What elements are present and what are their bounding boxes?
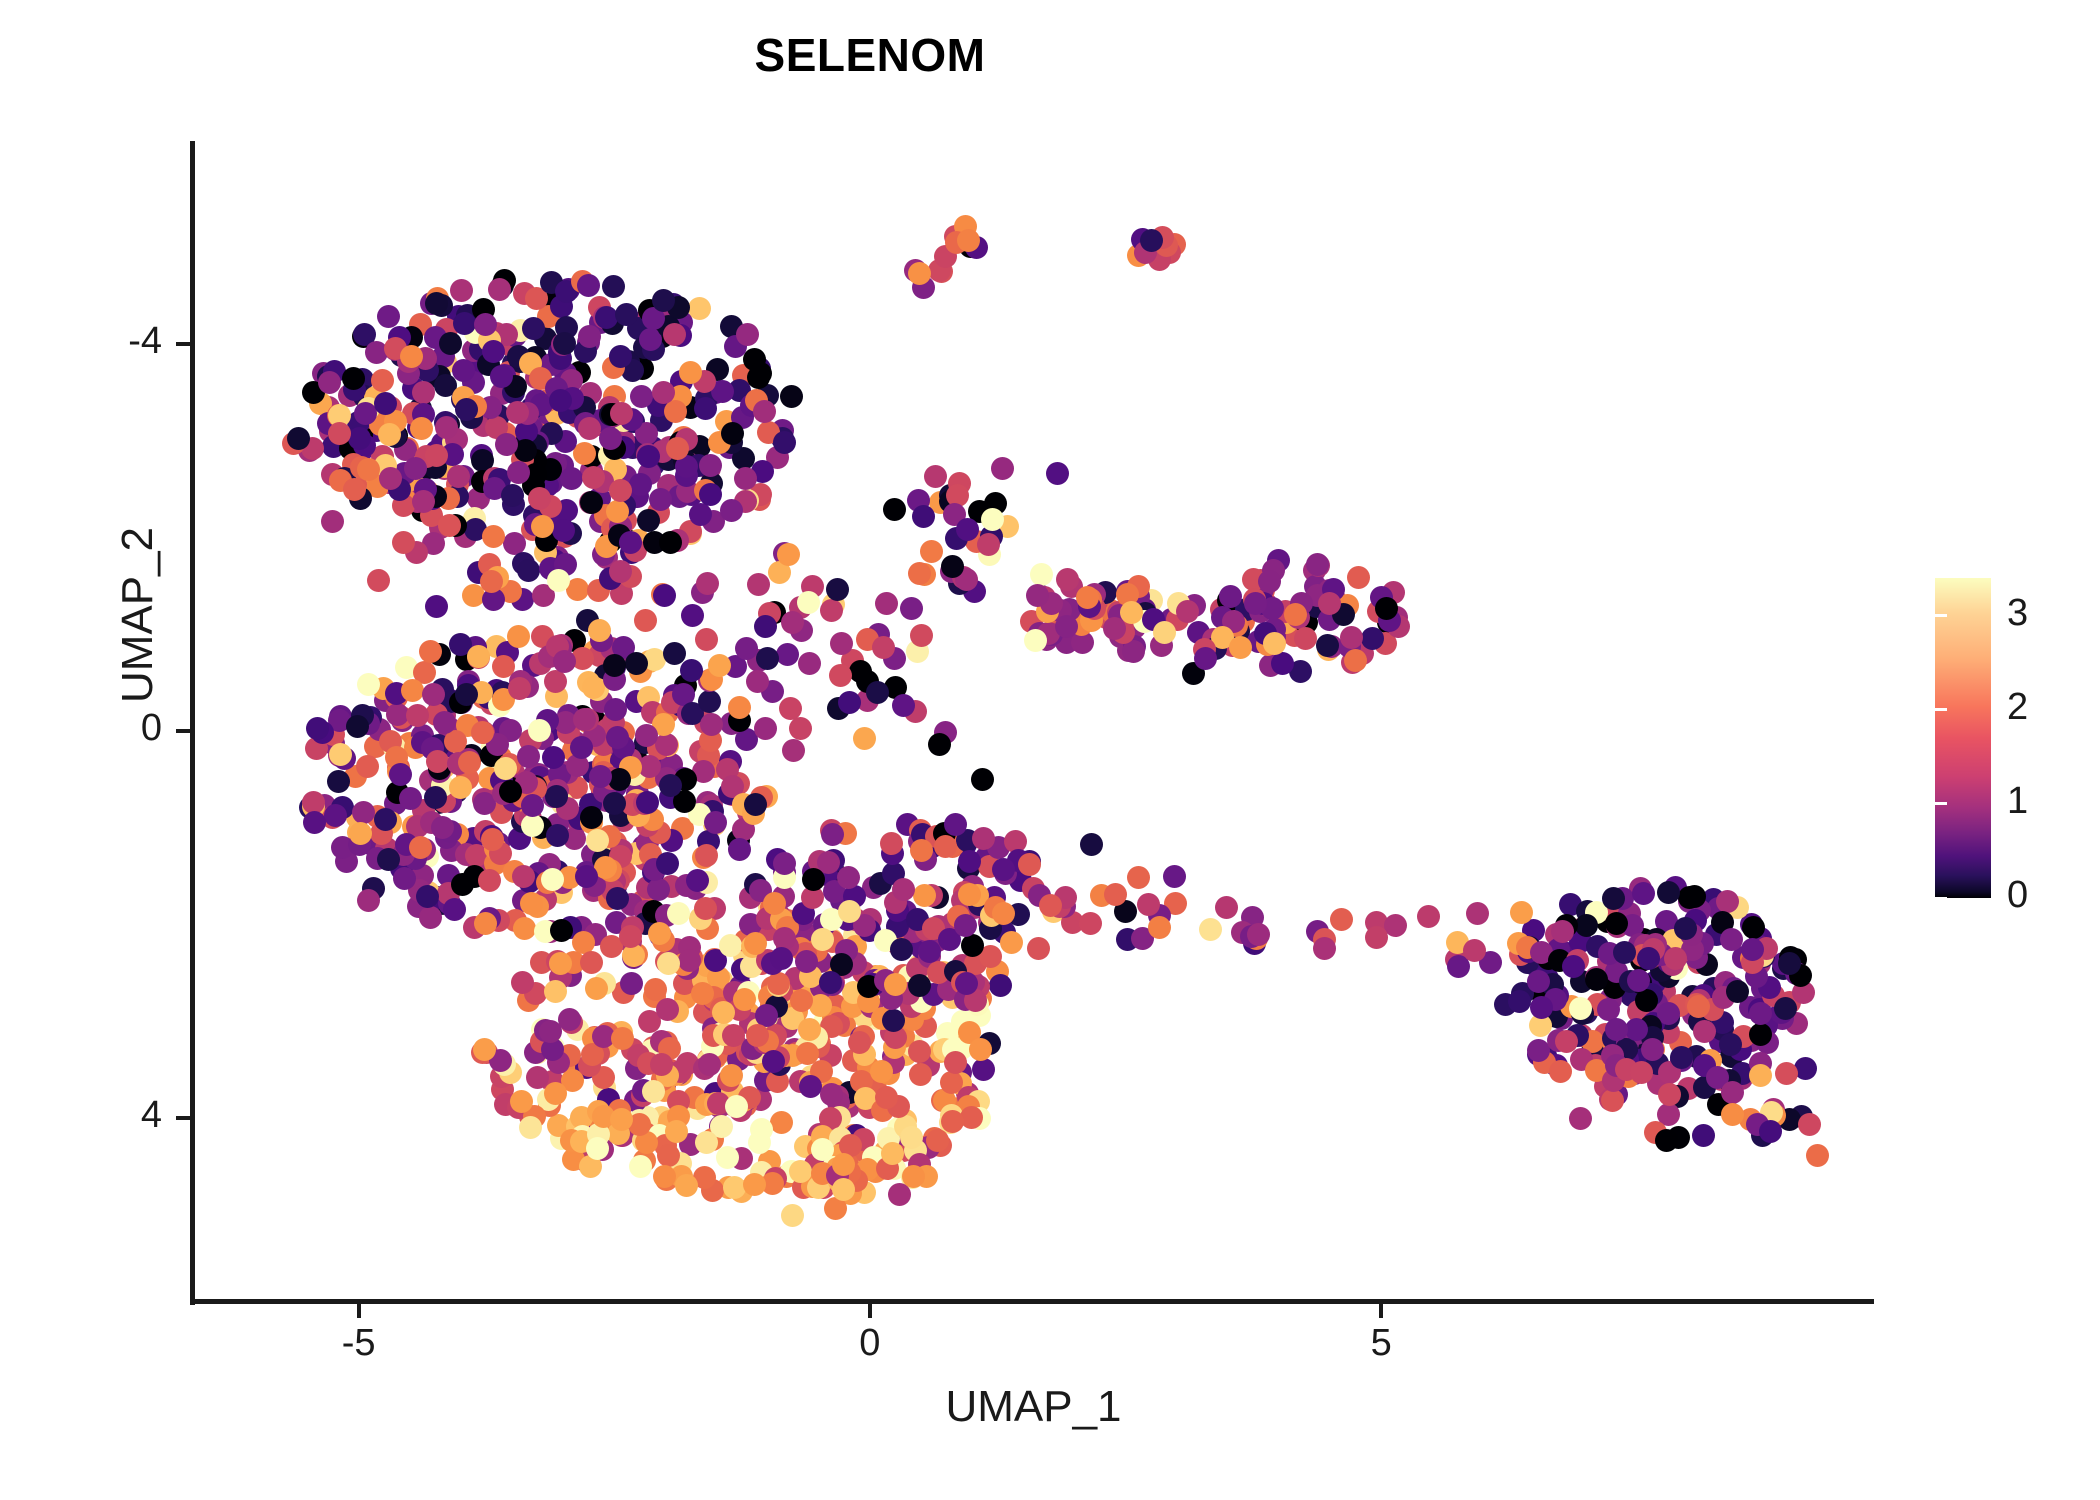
scatter-point <box>747 573 770 596</box>
scatter-point <box>619 531 642 554</box>
scatter-point <box>1798 1113 1821 1136</box>
scatter-point <box>981 508 1004 531</box>
colorbar-tick-label: 1 <box>2007 780 2067 823</box>
scatter-point <box>650 1053 673 1076</box>
scatter-point <box>969 1038 992 1061</box>
scatter-point <box>422 683 445 706</box>
scatter-point <box>1657 881 1680 904</box>
scatter-point <box>511 971 534 994</box>
scatter-point <box>754 615 777 638</box>
scatter-point <box>648 922 671 945</box>
scatter-point <box>754 717 777 740</box>
scatter-point <box>708 654 731 677</box>
scatter-point <box>1726 980 1749 1003</box>
scatter-point <box>494 757 517 780</box>
colorbar-gradient <box>1935 578 1991 898</box>
scatter-point <box>1347 566 1370 589</box>
scatter-point <box>400 345 423 368</box>
scatter-point <box>694 897 717 920</box>
scatter-point <box>357 673 380 696</box>
scatter-point <box>1721 1103 1744 1126</box>
scatter-point <box>712 1001 735 1024</box>
scatter-point <box>1039 894 1062 917</box>
scatter-point <box>389 763 412 786</box>
x-axis-line <box>190 1299 1874 1304</box>
scatter-point <box>700 713 723 736</box>
scatter-point <box>909 1063 932 1086</box>
scatter-point <box>539 1020 562 1043</box>
scatter-point <box>1602 887 1625 910</box>
scatter-point <box>820 1083 843 1106</box>
scatter-point <box>637 509 660 532</box>
scatter-point <box>848 1031 871 1054</box>
scatter-point <box>789 1160 812 1183</box>
scatter-point <box>451 873 474 896</box>
scatter-point <box>1670 1046 1693 1069</box>
scatter-point <box>575 865 598 888</box>
scatter-point <box>1104 883 1127 906</box>
colorbar-tick-mark <box>1935 708 1947 711</box>
scatter-point <box>517 559 540 582</box>
scatter-point <box>610 402 633 425</box>
scatter-point <box>773 431 796 454</box>
x-tick-label: 0 <box>810 1322 930 1365</box>
scatter-point <box>656 852 679 875</box>
scatter-point <box>773 927 796 950</box>
scatter-point <box>957 229 980 252</box>
scatter-point <box>1549 1060 1572 1083</box>
scatter-point <box>1613 941 1636 964</box>
scatter-point <box>657 1144 680 1167</box>
scatter-plot-panel[interactable] <box>195 141 1872 1302</box>
scatter-point <box>490 365 513 388</box>
scatter-point <box>401 679 424 702</box>
scatter-point <box>1806 1144 1829 1167</box>
scatter-point <box>910 624 933 647</box>
scatter-point <box>798 652 821 675</box>
scatter-point <box>513 917 536 940</box>
scatter-point <box>770 947 793 970</box>
scatter-point <box>577 274 600 297</box>
scatter-point <box>1079 912 1102 935</box>
scatter-point <box>371 369 394 392</box>
colorbar-tick-mark <box>1935 897 1947 900</box>
scatter-point <box>410 417 433 440</box>
scatter-point <box>971 768 994 791</box>
scatter-point <box>644 978 667 1001</box>
scatter-point <box>900 597 923 620</box>
scatter-point <box>1562 955 1585 978</box>
scatter-point <box>826 578 849 601</box>
scatter-point <box>553 332 576 355</box>
scatter-point <box>580 951 603 974</box>
scatter-point <box>1344 649 1367 672</box>
scatter-point <box>777 543 800 566</box>
scatter-point <box>789 717 812 740</box>
scatter-point <box>481 828 504 851</box>
scatter-point <box>357 458 380 481</box>
scatter-point <box>664 400 687 423</box>
scatter-point <box>1683 885 1706 908</box>
scatter-point <box>367 569 390 592</box>
scatter-point <box>545 785 568 808</box>
scatter-point <box>1194 647 1217 670</box>
scatter-point <box>549 389 572 412</box>
scatter-point <box>832 1153 855 1176</box>
scatter-point <box>1000 931 1023 954</box>
scatter-point <box>1655 1129 1678 1152</box>
x-tick-label: -5 <box>299 1322 419 1365</box>
scatter-point <box>770 1111 793 1134</box>
scatter-point <box>1026 584 1049 607</box>
scatter-point <box>666 437 689 460</box>
scatter-point <box>1199 918 1222 941</box>
scatter-point <box>570 736 593 759</box>
scatter-point <box>526 1066 549 1089</box>
scatter-point <box>431 816 454 839</box>
scatter-point <box>720 499 743 522</box>
scatter-point <box>781 1204 804 1227</box>
scatter-point <box>474 912 497 935</box>
scatter-point <box>450 279 473 302</box>
scatter-point <box>920 540 943 563</box>
scatter-point <box>1163 865 1186 888</box>
scatter-point <box>799 1075 822 1098</box>
scatter-point <box>458 751 481 774</box>
scatter-point <box>1076 586 1099 609</box>
scatter-point <box>1215 896 1238 919</box>
scatter-point <box>647 878 670 901</box>
scatter-point <box>586 829 609 852</box>
scatter-point <box>1635 989 1658 1012</box>
scatter-point <box>510 1090 533 1113</box>
scatter-point <box>1148 916 1171 939</box>
scatter-point <box>443 898 466 921</box>
scatter-point <box>1027 937 1050 960</box>
scatter-point <box>991 457 1014 480</box>
scatter-point <box>1749 1023 1772 1046</box>
y-tick-label: 4 <box>92 1094 162 1137</box>
scatter-point <box>473 1038 496 1061</box>
scatter-point <box>680 659 703 682</box>
scatter-point <box>872 636 895 659</box>
scatter-point <box>542 746 565 769</box>
scatter-point <box>1637 947 1660 970</box>
scatter-point <box>329 743 352 766</box>
scatter-point <box>546 824 569 847</box>
scatter-point <box>782 739 805 762</box>
scatter-point <box>681 604 704 627</box>
scatter-point <box>1140 229 1163 252</box>
scatter-point <box>560 467 583 490</box>
scatter-point <box>829 664 852 687</box>
scatter-point <box>609 560 632 583</box>
scatter-point <box>1122 640 1145 663</box>
scatter-point <box>419 640 442 663</box>
scatter-point <box>471 721 494 744</box>
scatter-point <box>924 465 947 488</box>
colorbar-tick-label: 3 <box>2007 592 2067 635</box>
scatter-point <box>602 275 625 298</box>
scatter-point <box>977 533 1000 556</box>
colorbar-tick-label: 2 <box>2007 686 2067 729</box>
scatter-point <box>520 892 543 915</box>
scatter-point <box>488 278 511 301</box>
scatter-point <box>1774 997 1797 1020</box>
scatter-point <box>695 628 718 651</box>
scatter-point <box>762 1050 785 1073</box>
plot-root: SELENOM 40-4 -505 UMAP_2 UMAP_1 0123 <box>0 0 2100 1500</box>
scatter-point <box>832 1178 855 1201</box>
scatter-point <box>426 750 449 773</box>
scatter-point <box>958 883 981 906</box>
scatter-point <box>736 323 759 346</box>
scatter-point <box>956 518 979 541</box>
scatter-point <box>482 525 505 548</box>
scatter-point <box>890 938 913 961</box>
scatter-point <box>585 977 608 1000</box>
scatter-point <box>797 591 820 614</box>
y-tick-label: -4 <box>92 320 162 363</box>
scatter-point <box>573 708 596 731</box>
scatter-point <box>883 498 906 521</box>
scatter-point <box>912 505 935 528</box>
scatter-point <box>756 647 779 670</box>
colorbar-tick-mark <box>1935 802 1947 805</box>
scatter-point <box>934 835 957 858</box>
scatter-point <box>821 823 844 846</box>
scatter-point <box>811 1138 834 1161</box>
scatter-point <box>303 811 326 834</box>
scatter-point <box>1569 1107 1592 1130</box>
scatter-point <box>866 681 889 704</box>
colorbar-tick-mark <box>1923 614 1935 617</box>
scatter-point <box>763 892 786 915</box>
colorbar-tick-label: 0 <box>2007 874 2067 917</box>
scatter-point <box>725 1095 748 1118</box>
scatter-point <box>926 1129 949 1152</box>
scatter-point <box>767 972 790 995</box>
scatter-point <box>698 690 721 713</box>
scatter-point <box>675 1174 698 1197</box>
scatter-point <box>328 422 351 445</box>
scatter-point <box>699 454 722 477</box>
scatter-point <box>721 422 744 445</box>
scatter-point <box>1641 1038 1664 1061</box>
scatter-point <box>528 487 551 510</box>
scatter-point <box>544 980 567 1003</box>
scatter-point <box>944 813 967 836</box>
scatter-point <box>409 836 432 859</box>
scatter-point <box>802 868 825 891</box>
scatter-point <box>941 1110 964 1133</box>
scatter-point <box>501 484 524 507</box>
scatter-point <box>352 801 375 824</box>
scatter-point <box>478 869 501 892</box>
x-axis-label: UMAP_1 <box>195 1382 1872 1432</box>
scatter-point <box>659 774 682 797</box>
scatter-point <box>393 867 416 890</box>
x-tick-label: 5 <box>1321 1322 1441 1365</box>
scatter-point <box>695 844 718 867</box>
scatter-point <box>649 488 672 511</box>
scatter-point <box>356 755 379 778</box>
scatter-point <box>698 1053 721 1076</box>
scatter-point <box>678 949 701 972</box>
scatter-point <box>1627 969 1650 992</box>
scatter-point <box>1508 990 1531 1013</box>
scatter-point <box>958 850 981 873</box>
scatter-point <box>467 645 490 668</box>
scatter-point <box>512 865 535 888</box>
scatter-point <box>637 445 660 468</box>
y-axis-line <box>190 141 195 1305</box>
scatter-point <box>655 733 678 756</box>
scatter-point <box>629 1155 652 1178</box>
scatter-point <box>881 1142 904 1165</box>
scatter-point <box>689 503 712 526</box>
scatter-point <box>544 1082 567 1105</box>
scatter-point <box>287 427 310 450</box>
scatter-point <box>1018 853 1041 876</box>
scatter-point <box>377 305 400 328</box>
scatter-point <box>357 889 380 912</box>
scatter-point <box>790 989 813 1012</box>
scatter-point <box>1244 592 1267 615</box>
scatter-point <box>753 400 776 423</box>
scatter-point <box>1080 833 1103 856</box>
scatter-point <box>1749 1002 1772 1025</box>
x-tick-mark <box>1379 1304 1383 1318</box>
scatter-point <box>1719 1033 1742 1056</box>
scatter-point <box>1153 621 1176 644</box>
scatter-point <box>892 878 915 901</box>
scatter-point <box>1625 1018 1648 1041</box>
scatter-point <box>507 625 530 648</box>
scatter-point <box>837 866 860 889</box>
scatter-point <box>1247 923 1270 946</box>
scatter-point <box>1721 1081 1744 1104</box>
scatter-point <box>1330 908 1353 931</box>
scatter-point <box>578 417 601 440</box>
scatter-point <box>521 814 544 837</box>
scatter-point <box>625 652 648 675</box>
scatter-point <box>425 444 448 467</box>
scatter-point <box>321 510 344 533</box>
scatter-point <box>547 569 570 592</box>
scatter-point <box>324 804 347 827</box>
y-axis-label-wrap: UMAP_2 <box>0 585 288 645</box>
colorbar-tick-mark <box>1923 897 1935 900</box>
scatter-point <box>620 972 643 995</box>
scatter-point <box>1294 627 1317 650</box>
scatter-point <box>667 902 690 925</box>
scatter-point <box>1417 905 1440 928</box>
scatter-point <box>781 611 804 634</box>
scatter-point <box>1632 882 1655 905</box>
scatter-point <box>1466 902 1489 925</box>
scatter-point <box>719 934 742 957</box>
scatter-point <box>1716 890 1739 913</box>
scatter-point <box>838 900 861 923</box>
scatter-point <box>318 371 341 394</box>
colorbar-tick-mark <box>1923 708 1935 711</box>
scatter-point <box>1318 592 1341 615</box>
scatter-point <box>1749 1064 1772 1087</box>
scatter-point <box>634 609 657 632</box>
y-tick-mark <box>176 342 190 346</box>
scatter-point <box>438 514 461 537</box>
scatter-point <box>679 361 702 384</box>
scatter-point <box>449 776 472 799</box>
scatter-point <box>425 595 448 618</box>
y-axis-label: UMAP_2 <box>108 465 168 765</box>
scatter-point <box>342 367 365 390</box>
scatter-point <box>412 490 435 513</box>
scatter-point <box>1361 627 1384 650</box>
scatter-point <box>699 483 722 506</box>
scatter-point <box>1527 1039 1550 1062</box>
scatter-point <box>550 919 573 942</box>
scatter-point <box>433 711 456 734</box>
colorbar-tick-mark <box>1923 802 1935 805</box>
scatter-point <box>750 1118 773 1141</box>
scatter-point <box>1742 916 1765 939</box>
scatter-point <box>665 1120 688 1143</box>
scatter-point <box>580 806 603 829</box>
scatter-point <box>659 531 682 554</box>
scatter-point <box>875 592 898 615</box>
scatter-point <box>773 852 796 875</box>
scatter-point <box>820 599 843 622</box>
scatter-point <box>1046 462 1069 485</box>
scatter-point <box>327 770 350 793</box>
scatter-point <box>743 1173 766 1196</box>
scatter-point <box>1365 926 1388 949</box>
scatter-point <box>349 822 372 845</box>
scatter-point <box>452 359 475 382</box>
scatter-point <box>972 827 995 850</box>
scatter-point <box>1601 1089 1624 1112</box>
scatter-point <box>519 1116 542 1139</box>
colorbar-tick-mark <box>1935 614 1947 617</box>
y-tick-mark <box>176 1116 190 1120</box>
scatter-point <box>604 698 627 721</box>
scatter-point <box>1664 947 1687 970</box>
scatter-point <box>728 696 751 719</box>
scatter-point <box>900 1126 923 1149</box>
scatter-point <box>940 1071 963 1094</box>
scatter-point <box>913 884 936 907</box>
scatter-point <box>506 401 529 424</box>
scatter-point <box>1176 600 1199 623</box>
scatter-point <box>1551 920 1574 943</box>
scatter-point <box>849 660 872 683</box>
scatter-point <box>1313 937 1336 960</box>
scatter-point <box>374 392 397 415</box>
scatter-point <box>819 971 842 994</box>
scatter-point <box>439 332 462 355</box>
scatter-point <box>884 973 907 996</box>
scatter-point <box>908 1040 931 1063</box>
scatter-point <box>552 519 575 542</box>
scatter-point <box>870 1060 893 1083</box>
scatter-point <box>663 323 686 346</box>
scatter-point <box>1674 917 1697 940</box>
scatter-point <box>348 427 371 450</box>
scatter-point <box>908 974 931 997</box>
scatter-point <box>553 650 576 673</box>
